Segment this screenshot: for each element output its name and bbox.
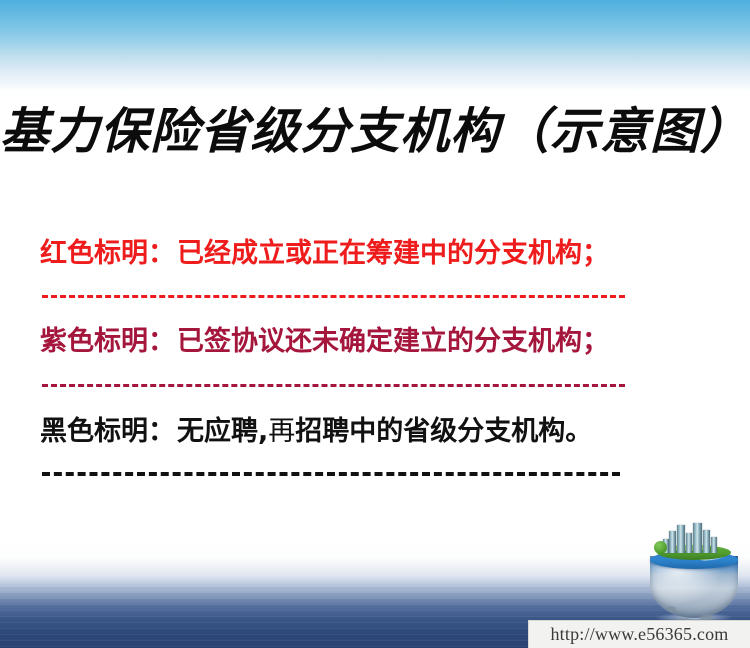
legend-description-purple: 已签协议还未确定建立的分支机构； [177,326,609,357]
sky-gradient-band [0,0,750,92]
watermark-bar: http://www.e56365.com [528,620,750,648]
legend-text-red: 红色标明：已经成立或正在筹建中的分支机构； [40,236,680,272]
slide-title: 基力保险省级分支机构（示意图） [0,103,750,161]
building [703,530,710,553]
building [669,531,676,553]
slide-canvas: 基力保险省级分支机构（示意图） 红色标明：已经成立或正在筹建中的分支机构； 紫色… [0,0,750,648]
spacer [40,450,680,472]
watermark-url: http://www.e56365.com [550,624,728,645]
legend-label-purple: 紫色标明： [40,326,175,357]
legend-divider-black [42,472,620,476]
legend-description-black-part-1: 无应聘, [177,416,268,447]
legend-row-purple: 紫色标明：已签协议还未确定建立的分支机构； [40,324,680,360]
spacer [40,298,680,324]
continent-shape [666,606,676,612]
legend-label-black: 黑色标明： [40,416,175,447]
spacer [40,360,680,384]
legend-text-purple: 紫色标明：已签协议还未确定建立的分支机构； [40,324,680,360]
legend-text-black: 黑色标明：无应聘,再招聘中的省级分支机构。 [40,414,680,450]
building [693,523,702,553]
globe-city-icon [641,521,747,619]
legend-description-black-part-2: 招聘中的省级分支机构。 [295,416,592,447]
legend-description-red: 已经成立或正在筹建中的分支机构； [177,238,609,269]
legend-description-black-thin: 再 [268,416,295,447]
legend-label-red: 红色标明： [40,238,175,269]
building [711,537,717,553]
legend-row-red: 红色标明：已经成立或正在筹建中的分支机构； [40,236,680,272]
spacer [40,387,680,414]
spacer [40,272,680,295]
legend-row-black: 黑色标明：无应聘,再招聘中的省级分支机构。 [40,414,680,450]
building [677,525,685,553]
building [686,533,692,553]
tree-icon [654,541,667,554]
legend-block: 红色标明：已经成立或正在筹建中的分支机构； 紫色标明：已签协议还未确定建立的分支… [40,236,680,476]
